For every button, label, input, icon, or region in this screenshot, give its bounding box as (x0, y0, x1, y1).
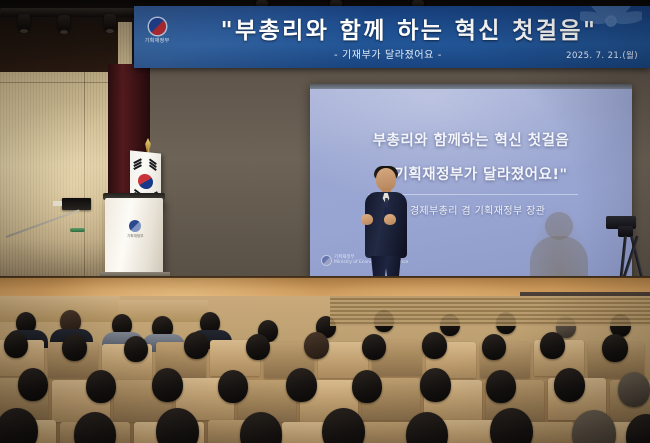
taeguk-circle (138, 173, 153, 190)
event-photograph: 기획재정부 "부총리와 함께 하는 혁신 첫걸음" - 기재부가 달라졌어요 -… (0, 0, 650, 443)
event-banner: 기획재정부 "부총리와 함께 하는 혁신 첫걸음" - 기재부가 달라졌어요 -… (134, 6, 650, 68)
screen-frame (310, 84, 632, 89)
ministry-emblem: 기획재정부 (140, 18, 174, 44)
audience-head (124, 336, 148, 362)
audience-head (246, 334, 270, 360)
audience-head (62, 334, 87, 361)
stage-light-icon (104, 14, 116, 31)
audience-head (602, 334, 628, 362)
slide-heading-line2: - "기획재정부가 달라졌어요!" (310, 163, 632, 184)
speaker-left-hand (361, 214, 373, 225)
speaking-podium: 기획재정부 (105, 198, 163, 276)
podium-emblem-label: 기획재정부 (127, 234, 143, 239)
stage-light-icon (18, 14, 30, 31)
audience-head (218, 370, 248, 403)
speaker-right-hand (384, 214, 396, 225)
speaker-figure (362, 168, 410, 286)
audience-area (0, 296, 650, 443)
government-emblem-icon (129, 220, 141, 232)
audience-head (322, 408, 365, 443)
slatted-wall-panel (330, 296, 650, 326)
projected-shadow (528, 208, 590, 280)
projection-screen: 부총리와 함께하는 혁신 첫걸음 - "기획재정부가 달라졌어요!" 월 경제부… (310, 84, 632, 280)
banner-title: "부총리와 함께 하는 혁신 첫걸음" (178, 11, 640, 45)
audience-head (420, 368, 451, 402)
audience-head (286, 368, 317, 402)
audience-head (184, 332, 209, 359)
audience-head (486, 370, 516, 403)
podium-emblem: 기획재정부 (127, 220, 143, 239)
taeguk-icon (149, 18, 166, 35)
ministry-emblem-label: 기획재정부 (140, 37, 174, 44)
stage-light-icon (58, 15, 70, 32)
audience-head (482, 334, 506, 360)
banner-subtitle: - 기재부가 달라졌어요 - (178, 46, 598, 61)
audience-head (618, 372, 650, 407)
slide-subtitle: 월 경제부총리 겸 기획재정부 장관 (310, 202, 632, 217)
audience-head (86, 370, 116, 403)
audience-head (304, 332, 329, 359)
audience-head (362, 334, 386, 360)
government-emblem-icon (322, 256, 331, 265)
banner-date: 2025. 7. 21.(월) (566, 49, 638, 61)
audience-head (422, 332, 447, 359)
lamp-head (70, 228, 85, 232)
audience-head (540, 332, 565, 359)
slide-heading-line1: 부총리와 함께하는 혁신 첫걸음 (310, 129, 632, 150)
wall-speaker-icon (62, 198, 91, 210)
audience-head (352, 370, 382, 403)
audience-head (18, 368, 48, 401)
audience-head (4, 332, 28, 358)
audience-head (554, 368, 585, 402)
audience-head (152, 368, 183, 402)
